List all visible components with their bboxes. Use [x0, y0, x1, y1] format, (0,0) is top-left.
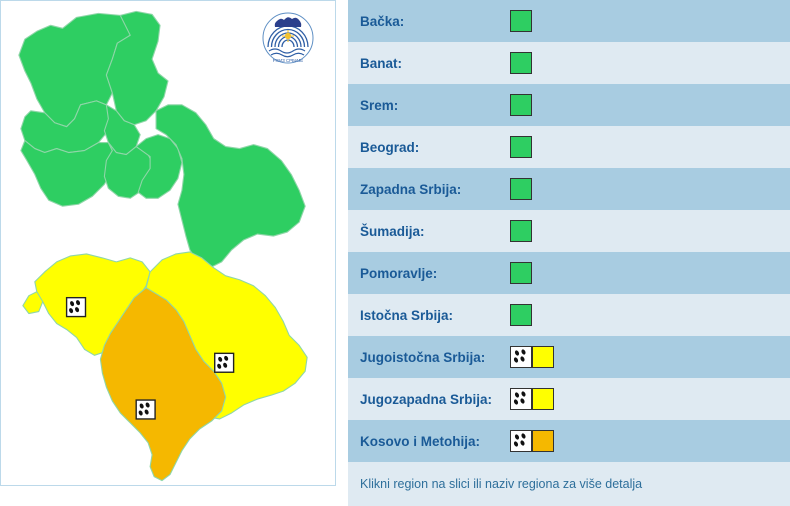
warning-icons [510, 220, 532, 242]
legend-row-backa[interactable]: Bačka: [348, 0, 790, 42]
region-label[interactable]: Pomoravlje: [348, 266, 498, 281]
level-swatch-green [510, 262, 532, 284]
legend-row-istocna-srbija[interactable]: Istočna Srbija: [348, 294, 790, 336]
rain-icon [510, 346, 532, 368]
rain-icon [510, 388, 532, 410]
warning-icons [510, 430, 554, 452]
legend-row-srem[interactable]: Srem: [348, 84, 790, 126]
region-label[interactable]: Srem: [348, 98, 498, 113]
weather-warning-widget: РХМЗ СРБИЈЕ Bačka: Banat: Srem: Beograd: [0, 0, 790, 500]
level-swatch-green [510, 52, 532, 74]
level-swatch-yellow [532, 346, 554, 368]
warning-icons [510, 304, 532, 326]
legend-row-pomoravlje[interactable]: Pomoravlje: [348, 252, 790, 294]
level-swatch-green [510, 304, 532, 326]
level-swatch-yellow [532, 388, 554, 410]
region-label[interactable]: Zapadna Srbija: [348, 182, 498, 197]
legend-row-banat[interactable]: Banat: [348, 42, 790, 84]
warning-icons [510, 52, 532, 74]
level-swatch-green [510, 10, 532, 32]
warning-icons [510, 94, 532, 116]
region-label[interactable]: Bačka: [348, 14, 498, 29]
warning-icons [510, 388, 554, 410]
level-swatch-orange [532, 430, 554, 452]
warning-icons [510, 10, 532, 32]
region-label[interactable]: Beograd: [348, 140, 498, 155]
region-label[interactable]: Jugozapadna Srbija: [348, 392, 498, 407]
legend-row-jugozapadna-srbija[interactable]: Jugozapadna Srbija: [348, 378, 790, 420]
level-swatch-green [510, 220, 532, 242]
region-label[interactable]: Šumadija: [348, 224, 498, 239]
region-label[interactable]: Banat: [348, 56, 498, 71]
region-label[interactable]: Istočna Srbija: [348, 308, 498, 323]
rain-icon [510, 430, 532, 452]
map-hint-text: Klikni region na slici ili naziv regiona… [348, 477, 642, 491]
legend-row-beograd[interactable]: Beograd: [348, 126, 790, 168]
region-label[interactable]: Kosovo i Metohija: [348, 434, 498, 449]
warning-icons [510, 136, 532, 158]
warning-icons [510, 178, 532, 200]
warning-icons [510, 262, 532, 284]
level-swatch-green [510, 178, 532, 200]
region-warning-list: Bačka: Banat: Srem: Beograd: Zapadna Srb [336, 0, 790, 500]
region-label[interactable]: Jugoistočna Srbija: [348, 350, 498, 365]
map-hint-footer: Klikni region na slici ili naziv regiona… [348, 462, 790, 506]
serbia-warning-map[interactable]: РХМЗ СРБИЈЕ [0, 0, 336, 486]
warning-icons [510, 346, 554, 368]
level-swatch-green [510, 136, 532, 158]
level-swatch-green [510, 94, 532, 116]
legend-row-zapadna-srbija[interactable]: Zapadna Srbija: [348, 168, 790, 210]
legend-row-jugoistocna-srbija[interactable]: Jugoistočna Srbija: [348, 336, 790, 378]
legend-row-kosovo-i-metohija[interactable]: Kosovo i Metohija: [348, 420, 790, 462]
map-svg[interactable] [1, 1, 335, 485]
legend-row-sumadija[interactable]: Šumadija: [348, 210, 790, 252]
